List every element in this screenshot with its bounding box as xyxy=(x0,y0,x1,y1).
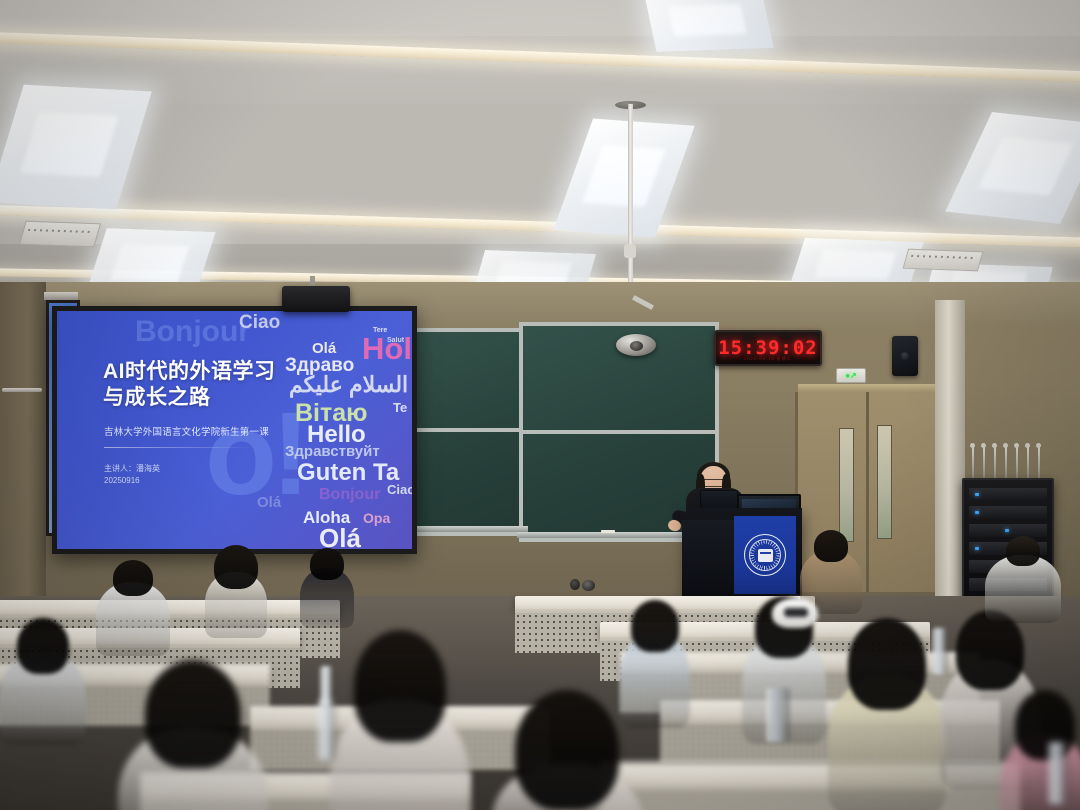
podium-side-panel xyxy=(682,520,740,596)
student xyxy=(620,600,690,696)
antenna-tip xyxy=(1003,443,1008,448)
ceiling-light-strip xyxy=(0,32,1080,82)
student xyxy=(828,618,946,758)
rack-unit xyxy=(969,506,1047,519)
student xyxy=(800,530,862,594)
cap-brim xyxy=(784,608,808,617)
word-cloud-term: Ciao xyxy=(239,313,280,332)
student-hair xyxy=(1006,536,1040,566)
right-wall-column xyxy=(935,300,965,600)
digital-clock: 15:39:02 2025-09-16 星期二 xyxy=(714,330,822,366)
slide-title-line1: AI时代的外语学习 xyxy=(103,359,313,385)
slide-divider xyxy=(104,447,254,448)
rack-unit xyxy=(969,488,1047,501)
chalk-tray xyxy=(406,526,528,532)
university-emblem-icon xyxy=(744,534,786,576)
clock-date-label: 2025-09-16 星期二 xyxy=(716,356,820,362)
antenna-tip xyxy=(970,443,975,448)
chalkboard-left xyxy=(408,328,534,536)
water-bottle xyxy=(320,666,334,706)
exit-sign: ●↗ xyxy=(836,368,866,383)
student xyxy=(0,618,86,710)
ceiling-vent xyxy=(903,249,984,272)
left-wall-jamb xyxy=(0,282,46,622)
student-hair xyxy=(515,690,619,810)
slide-date: 20250916 xyxy=(104,475,160,487)
ceiling-vent xyxy=(19,221,101,248)
student-hair xyxy=(113,560,153,596)
camera-lens-icon xyxy=(630,341,643,351)
student-hair xyxy=(17,618,69,674)
water-bottle xyxy=(1048,742,1068,804)
antenna-tip xyxy=(1014,443,1019,448)
student-desk xyxy=(0,600,340,616)
ceiling-projector-icon xyxy=(282,286,350,312)
door-glass-strip xyxy=(877,425,892,539)
water-bottle xyxy=(932,628,948,674)
antenna-icon xyxy=(1038,446,1040,480)
antenna-icon xyxy=(1027,446,1029,480)
student xyxy=(205,545,267,611)
projection-screen: o! BonjourCiaoTereSalutOláHolЗдравоالسلا… xyxy=(52,306,417,554)
door-split xyxy=(866,392,869,592)
word-cloud-term: Opa xyxy=(363,511,390,525)
thermos-cup xyxy=(766,688,790,742)
antenna-tip xyxy=(981,443,986,448)
ceiling xyxy=(0,0,1080,300)
slide-title: AI时代的外语学习 与成长之路 xyxy=(103,359,313,410)
camera-pole-joint xyxy=(624,244,636,258)
lecture-hall-photo: o! BonjourCiaoTereSalutOláHolЗдравоالسلا… xyxy=(0,0,1080,810)
antenna-icon xyxy=(1016,446,1018,480)
student xyxy=(300,548,354,608)
water-bottle xyxy=(318,700,336,760)
slide-motif: o! xyxy=(205,407,304,501)
antenna-tip xyxy=(1036,443,1041,448)
student-hair xyxy=(848,618,926,710)
camera-pole xyxy=(628,104,633,296)
antenna-tip xyxy=(992,443,997,448)
word-cloud-term: Olá xyxy=(312,341,336,356)
student-hair xyxy=(354,630,446,742)
word-cloud-term: Tere xyxy=(373,327,387,334)
word-cloud-term: Aloha xyxy=(303,509,350,526)
antenna-icon xyxy=(1005,446,1007,480)
word-cloud-term: Hol xyxy=(362,333,412,364)
ceiling-band-top xyxy=(0,0,1080,36)
antenna-tip xyxy=(1025,443,1030,448)
slide-presenter: 主讲人：潘海英 xyxy=(104,463,160,475)
student-hair xyxy=(145,660,241,768)
student-hair xyxy=(214,545,258,589)
student-hair xyxy=(814,530,848,562)
antenna-icon xyxy=(972,446,974,480)
wall-speaker-icon xyxy=(892,336,918,376)
slide-title-line2: 与成长之路 xyxy=(103,385,313,411)
slide-meta: 主讲人：潘海英 20250916 xyxy=(104,463,160,488)
word-cloud-term: Bonjour xyxy=(135,317,250,347)
antenna-icon xyxy=(983,446,985,480)
slide-surface: o! BonjourCiaoTereSalutOláHolЗдравоالسلا… xyxy=(57,311,412,549)
student-hair xyxy=(310,548,344,580)
word-cloud-term: Olá xyxy=(319,525,361,549)
student xyxy=(96,560,170,634)
word-cloud-term: Te xyxy=(393,401,407,414)
door-glass-strip xyxy=(839,428,854,542)
slide-subtitle: 吉林大学外国语言文化学院新生第一课 xyxy=(104,427,319,439)
podium-front-panel xyxy=(734,516,796,594)
student xyxy=(330,630,470,810)
student xyxy=(118,660,268,810)
ceiling-panel-light xyxy=(644,0,773,52)
antenna-icon xyxy=(994,446,996,480)
word-cloud-term: Salut xyxy=(387,337,404,344)
word-cloud-term: Ciao xyxy=(387,483,412,496)
student xyxy=(985,536,1061,604)
student-hair xyxy=(631,600,679,652)
word-cloud-term: Bonjour xyxy=(319,487,380,503)
window-sill xyxy=(44,292,78,300)
exit-icon: ●↗ xyxy=(845,371,857,380)
student xyxy=(1000,690,1080,810)
word-cloud-term: Guten Ta xyxy=(297,461,399,485)
wall-rail xyxy=(2,388,42,392)
